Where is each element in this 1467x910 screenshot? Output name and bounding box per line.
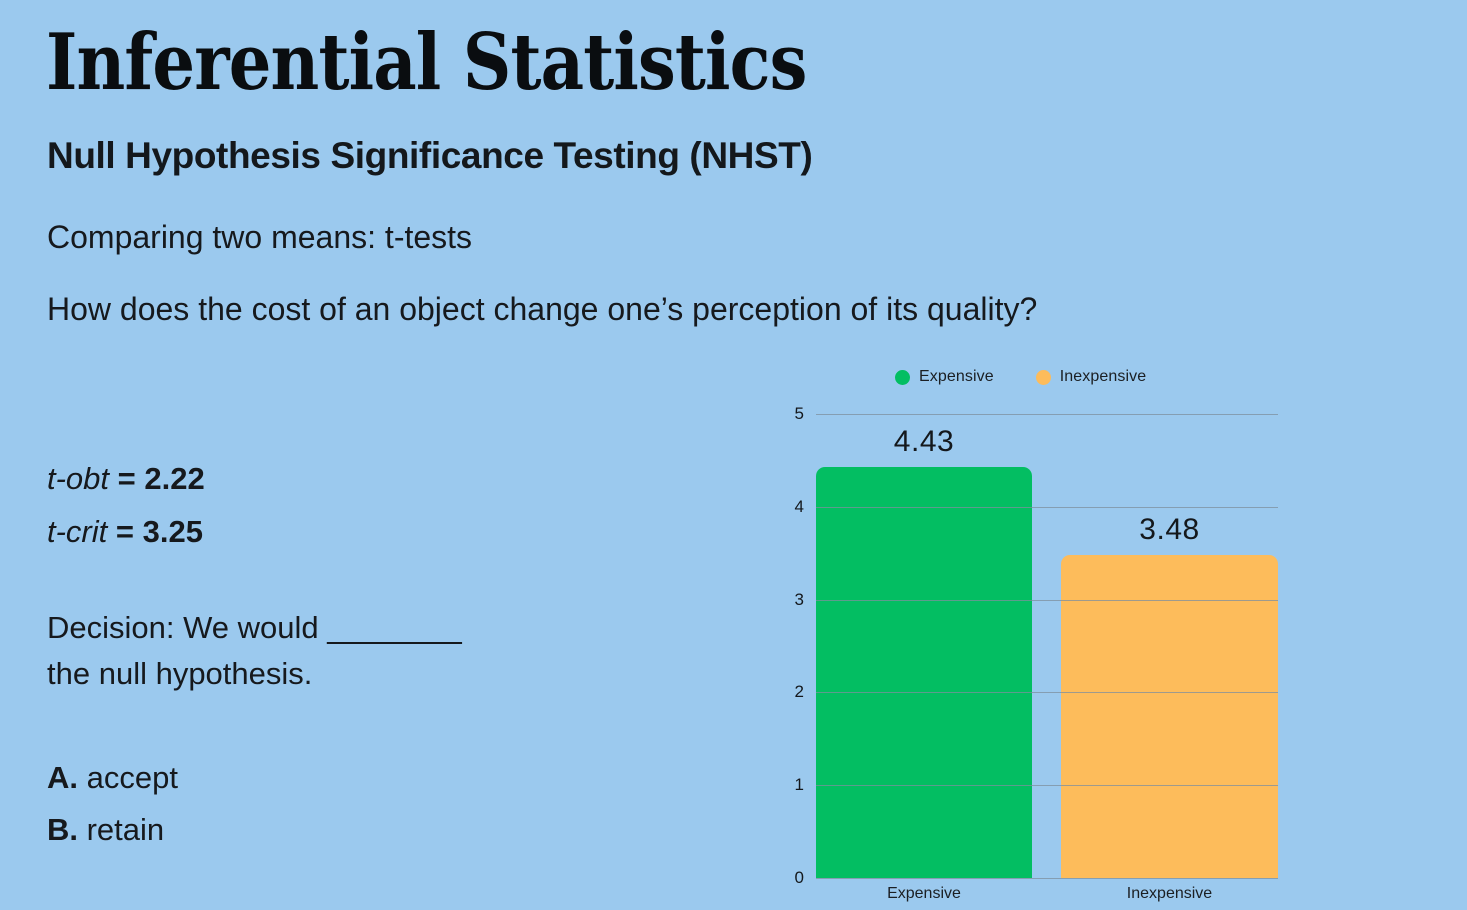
choice-b-label: retain xyxy=(78,812,164,847)
bar-inexpensive[interactable] xyxy=(1061,555,1278,878)
t-obt-value: = 2.22 xyxy=(109,461,205,496)
choice-b[interactable]: B. retain xyxy=(47,804,178,856)
test-statistics-block: t-obt = 2.22 t-crit = 3.25 xyxy=(47,452,205,559)
choice-a-key: A. xyxy=(47,760,78,795)
t-crit-symbol: t-crit xyxy=(47,514,107,549)
choice-a[interactable]: A. accept xyxy=(47,752,178,804)
answer-choices: A. accept B. retain xyxy=(47,752,178,856)
slide-canvas: Inferential Statistics Null Hypothesis S… xyxy=(0,0,1467,910)
gridline-3 xyxy=(816,600,1278,601)
y-axis-tick-2: 2 xyxy=(760,682,804,702)
decision-lead: Decision: We would xyxy=(47,610,327,645)
gridline-0 xyxy=(816,878,1278,879)
gridline-1 xyxy=(816,785,1278,786)
x-axis-label-expensive: Expensive xyxy=(816,885,1032,903)
bar-chart: Expensive Inexpensive 4.43 3.48 Expensiv… xyxy=(760,360,1300,905)
page-title: Inferential Statistics xyxy=(46,24,807,102)
choice-b-key: B. xyxy=(47,812,78,847)
decision-tail: the null hypothesis. xyxy=(47,656,312,691)
y-axis-tick-4: 4 xyxy=(760,497,804,517)
chart-plot-area: 4.43 3.48 Expensive Inexpensive 543210 xyxy=(760,360,1300,905)
decision-prompt: Decision: We would ________the null hypo… xyxy=(47,605,461,697)
t-crit-line: t-crit = 3.25 xyxy=(47,505,205,558)
gridline-2 xyxy=(816,692,1278,693)
bar-value-expensive: 4.43 xyxy=(816,425,1032,459)
gridline-4 xyxy=(816,507,1278,508)
y-axis-tick-1: 1 xyxy=(760,775,804,795)
t-obt-line: t-obt = 2.22 xyxy=(47,452,205,505)
choice-a-label: accept xyxy=(78,760,178,795)
t-obt-symbol: t-obt xyxy=(47,461,109,496)
gridline-5 xyxy=(816,414,1278,415)
y-axis-tick-0: 0 xyxy=(760,868,804,888)
y-axis-tick-3: 3 xyxy=(760,590,804,610)
lede-line-2: How does the cost of an object change on… xyxy=(47,291,1037,328)
t-crit-value: = 3.25 xyxy=(107,514,203,549)
x-axis-label-inexpensive: Inexpensive xyxy=(1061,885,1278,903)
bar-value-inexpensive: 3.48 xyxy=(1061,513,1278,547)
lede-line-1: Comparing two means: t-tests xyxy=(47,219,472,256)
decision-blank: ________ xyxy=(327,610,461,645)
y-axis-tick-5: 5 xyxy=(760,404,804,424)
page-subtitle: Null Hypothesis Significance Testing (NH… xyxy=(47,136,812,177)
bar-expensive[interactable] xyxy=(816,467,1032,878)
